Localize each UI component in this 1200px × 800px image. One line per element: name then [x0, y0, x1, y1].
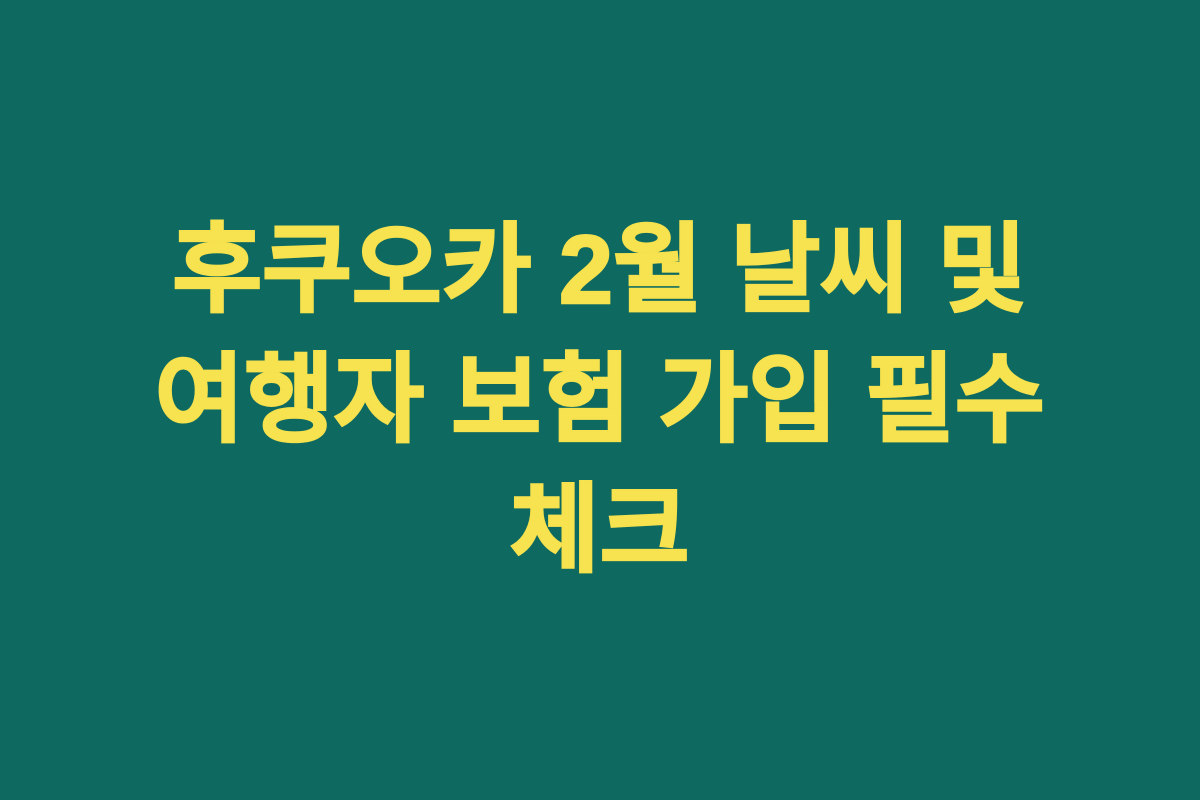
thumbnail-card: 후쿠오카 2월 날씨 및 여행자 보험 가입 필수 체크 [0, 0, 1200, 800]
title-block: 후쿠오카 2월 날씨 및 여행자 보험 가입 필수 체크 [80, 205, 1120, 595]
page-title: 후쿠오카 2월 날씨 및 여행자 보험 가입 필수 체크 [80, 205, 1120, 595]
